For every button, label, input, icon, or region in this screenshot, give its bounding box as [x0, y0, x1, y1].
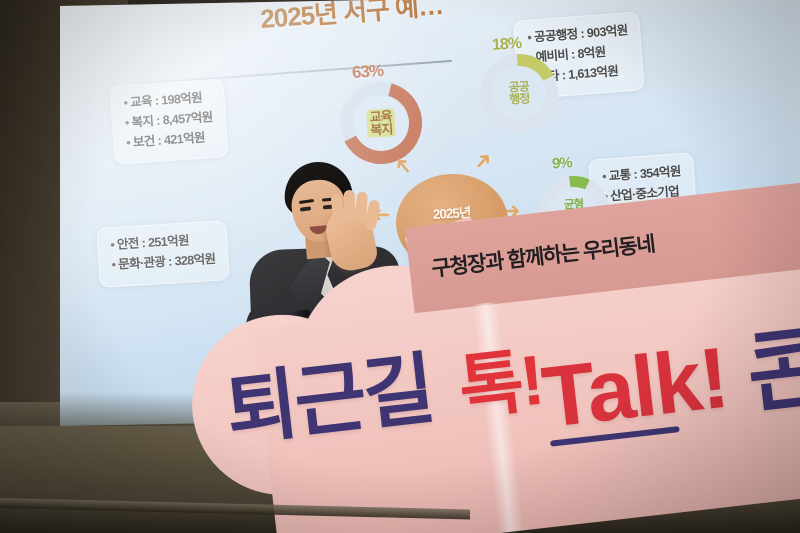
speaker-finger: [344, 190, 356, 220]
photo-stage: 2025년 서구 예… 교육 : 198억원 복지 : 8,457억원 보건 :…: [0, 0, 800, 533]
slide-title: 2025년 서구 예…: [259, 0, 444, 36]
percent-balanced-development: 9%: [551, 154, 572, 172]
arrow-north-east-icon: ➜: [467, 145, 499, 176]
label-line-2: 행정: [509, 92, 530, 105]
donut-label-education-welfare: 교육 복지: [366, 108, 395, 138]
banner-word-toegeungil: 퇴근길: [220, 326, 438, 461]
banner-word-tok: 톡!: [453, 324, 546, 434]
card-education-budget: 교육 : 198억원 복지 : 8,457억원 보건 : 421억원: [109, 78, 228, 165]
percent-public-admin: 18%: [491, 35, 521, 55]
label-line-2: 복지: [370, 122, 393, 136]
percent-education-welfare: 63%: [351, 61, 383, 83]
donut-label-public-admin: 공공 행정: [508, 80, 529, 105]
